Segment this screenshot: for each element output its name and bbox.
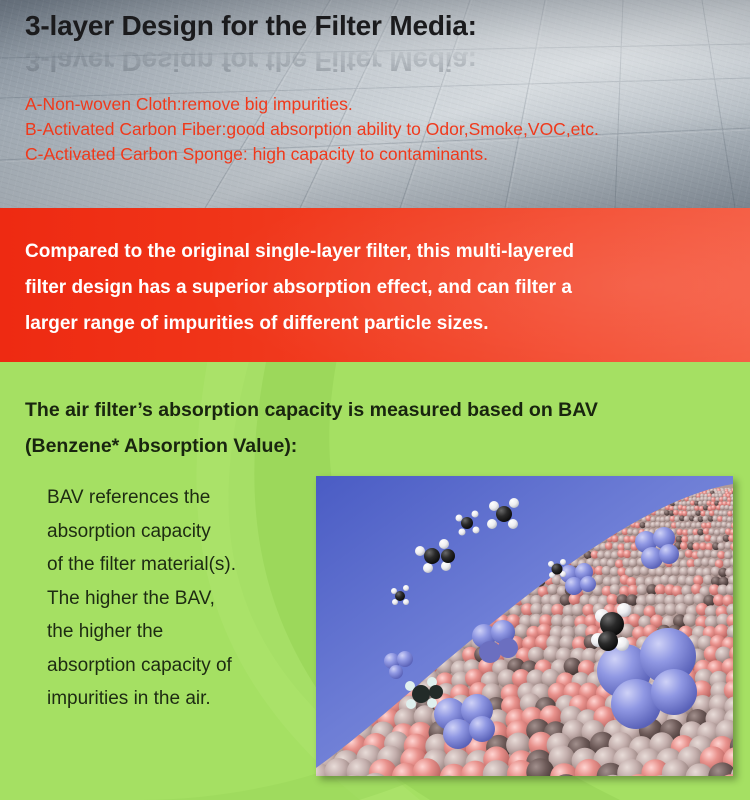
adsorption-illustration-svg (316, 476, 733, 776)
page-title: 3-layer Design for the Filter Media: (25, 8, 725, 43)
bav-description-line: BAV references the (47, 481, 302, 515)
list-item: A-Non-woven Cloth:remove big impurities. (25, 92, 740, 117)
product-description-page: 3-layer Design for the Filter Media: 3-l… (0, 0, 750, 800)
green-bav-section: BESTPURE The air filter’s absorption cap… (0, 362, 750, 800)
filter-layer-list: A-Non-woven Cloth:remove big impurities.… (25, 92, 740, 167)
red-callout-banner: Compared to the original single-layer fi… (0, 208, 750, 362)
red-banner-line: Compared to the original single-layer fi… (25, 234, 715, 270)
bav-description-line: of the filter material(s). (47, 548, 302, 582)
list-item: B-Activated Carbon Fiber:good absorption… (25, 117, 740, 142)
bav-description-line: absorption capacity of (47, 649, 302, 683)
header-section: 3-layer Design for the Filter Media: 3-l… (0, 0, 750, 208)
adsorption-illustration (316, 476, 733, 776)
bav-heading-line: The air filter’s absorption capacity is … (25, 392, 725, 428)
page-title-reflection: 3-layer Design for the Filter Media: (25, 44, 725, 79)
bav-description-line: The higher the BAV, (47, 582, 302, 616)
bav-heading-line: (Benzene* Absorption Value): (25, 428, 725, 464)
bav-description-line: absorption capacity (47, 515, 302, 549)
bav-description: BAV references the absorption capacity o… (47, 481, 302, 716)
list-item: C-Activated Carbon Sponge: high capacity… (25, 142, 740, 167)
red-banner-line: filter design has a superior absorption … (25, 270, 715, 306)
bav-description-line: impurities in the air. (47, 682, 302, 716)
bav-description-line: the higher the (47, 615, 302, 649)
bav-heading: The air filter’s absorption capacity is … (25, 392, 725, 464)
red-banner-line: larger range of impurities of different … (25, 306, 715, 342)
red-banner-text: Compared to the original single-layer fi… (25, 234, 715, 342)
